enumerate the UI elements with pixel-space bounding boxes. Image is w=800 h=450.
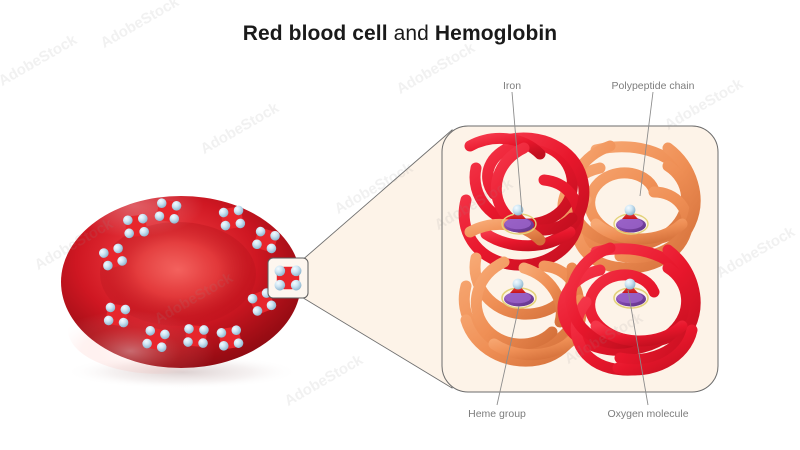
hemoglobin-cluster bbox=[218, 205, 246, 231]
diagram-svg: Iron Polypeptide chain Heme group Oxygen… bbox=[0, 0, 800, 450]
illustration-canvas: Red blood cell and Hemoglobin bbox=[0, 0, 800, 450]
label-heme-group: Heme group bbox=[468, 408, 526, 420]
callout-wedge bbox=[300, 130, 452, 388]
hemoglobin-panel bbox=[442, 126, 718, 392]
hemoglobin-cluster bbox=[183, 324, 209, 348]
hemoglobin-cluster bbox=[216, 325, 244, 352]
label-iron: Iron bbox=[503, 80, 521, 92]
oxygen-sphere bbox=[625, 205, 636, 216]
red-blood-cell bbox=[61, 190, 301, 389]
hemoglobin-cluster bbox=[103, 302, 131, 328]
hemoglobin-cluster bbox=[154, 198, 182, 225]
cell-top-highlight bbox=[66, 190, 234, 266]
label-polypeptide-chain: Polypeptide chain bbox=[612, 80, 695, 92]
oxygen-sphere bbox=[625, 279, 636, 290]
callout-source-box bbox=[268, 258, 308, 298]
label-oxygen-molecule: Oxygen molecule bbox=[607, 408, 688, 420]
oxygen-sphere bbox=[513, 279, 524, 290]
hemoglobin-cluster bbox=[123, 213, 150, 238]
